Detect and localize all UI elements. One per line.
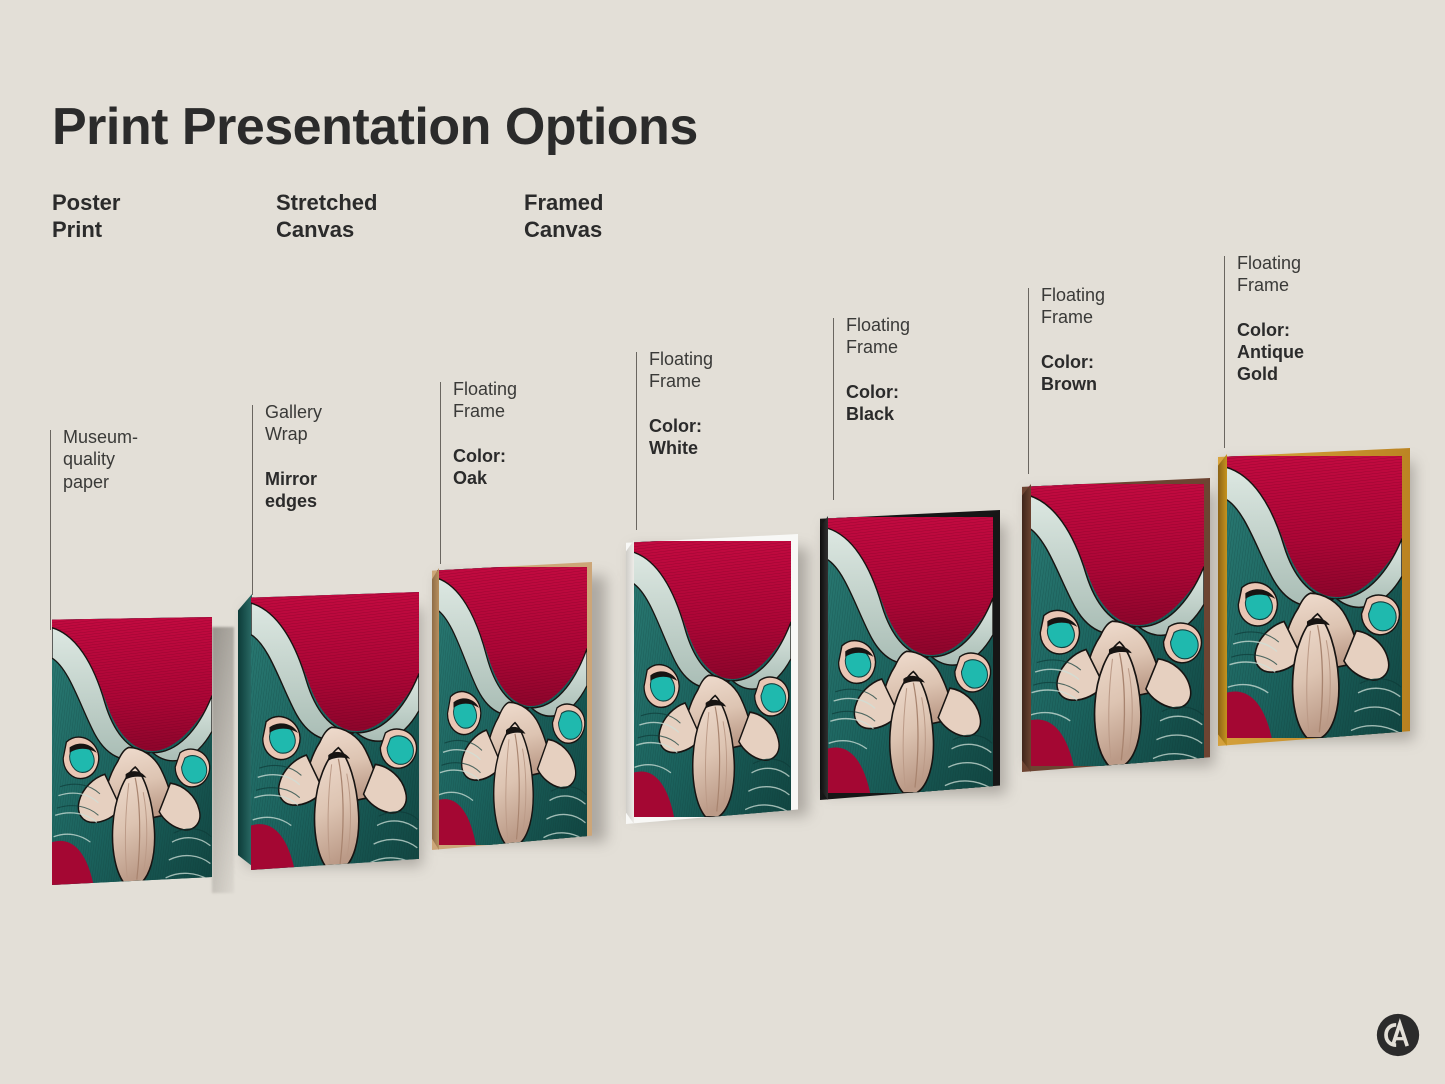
callout-title: Floating Frame (1237, 252, 1387, 297)
leader-line (833, 318, 834, 500)
page-title: Print Presentation Options (52, 100, 698, 155)
print-floating-frame-white[interactable] (626, 534, 816, 826)
callout-title: Floating Frame (1041, 284, 1191, 329)
leader-line (1224, 256, 1225, 448)
leader-line (252, 405, 253, 595)
print-floating-frame-brown[interactable] (1022, 478, 1222, 774)
artwork-framed-black (827, 517, 993, 793)
artwork-framed-white (633, 541, 791, 817)
poster-edge-shadow (212, 627, 234, 893)
frame-side-depth (820, 516, 828, 800)
callout-title: Museum- quality paper (63, 426, 213, 493)
frame-brown (1022, 478, 1210, 772)
leader-line (636, 352, 637, 530)
frame-white (626, 534, 798, 824)
frame-side-depth (1218, 454, 1227, 746)
print-floating-frame-antique-gold[interactable] (1218, 448, 1423, 748)
ca-monogram-logo (1375, 1012, 1421, 1058)
leader-line (1028, 288, 1029, 474)
artwork-gallery-wrap (251, 592, 419, 870)
category-heading-stretched-canvas: Stretched Canvas (276, 190, 377, 244)
callout-subtitle: Color: Antique Gold (1237, 319, 1387, 386)
callout-subtitle: Mirror edges (265, 468, 415, 513)
category-heading-framed-canvas: Framed Canvas (524, 190, 603, 244)
frame-oak (432, 562, 592, 850)
callout-title: Floating Frame (846, 314, 996, 359)
print-floating-frame-black[interactable] (820, 510, 1015, 802)
poster-canvas: Print Presentation Options Poster Print … (0, 0, 1445, 1084)
callout-subtitle: Color: Black (846, 381, 996, 426)
artwork-framed-brown (1028, 484, 1204, 766)
callout-subtitle: Color: Brown (1041, 351, 1191, 396)
artwork-poster (52, 617, 212, 885)
artwork-framed-antique-gold (1226, 456, 1402, 738)
callout-title: Floating Frame (453, 378, 603, 423)
print-gallery-wrap[interactable] (238, 592, 428, 872)
leader-line (50, 430, 51, 630)
callout-title: Gallery Wrap (265, 401, 415, 446)
callout-title: Floating Frame (649, 348, 799, 393)
artwork-framed-oak (437, 567, 587, 845)
frame-black (820, 510, 1000, 800)
frame-side-depth (432, 568, 439, 850)
frame-side-depth (626, 540, 634, 824)
print-poster-print[interactable] (52, 617, 220, 885)
leader-line (440, 382, 441, 564)
print-floating-frame-oak[interactable] (432, 562, 612, 852)
callout-subtitle: Color: Oak (453, 445, 603, 490)
callout-subtitle: Color: White (649, 415, 799, 460)
canvas-wrap-edge (238, 594, 252, 866)
category-heading-poster-print: Poster Print (52, 190, 120, 244)
frame-antique-gold (1218, 448, 1410, 746)
frame-side-depth (1022, 484, 1031, 772)
